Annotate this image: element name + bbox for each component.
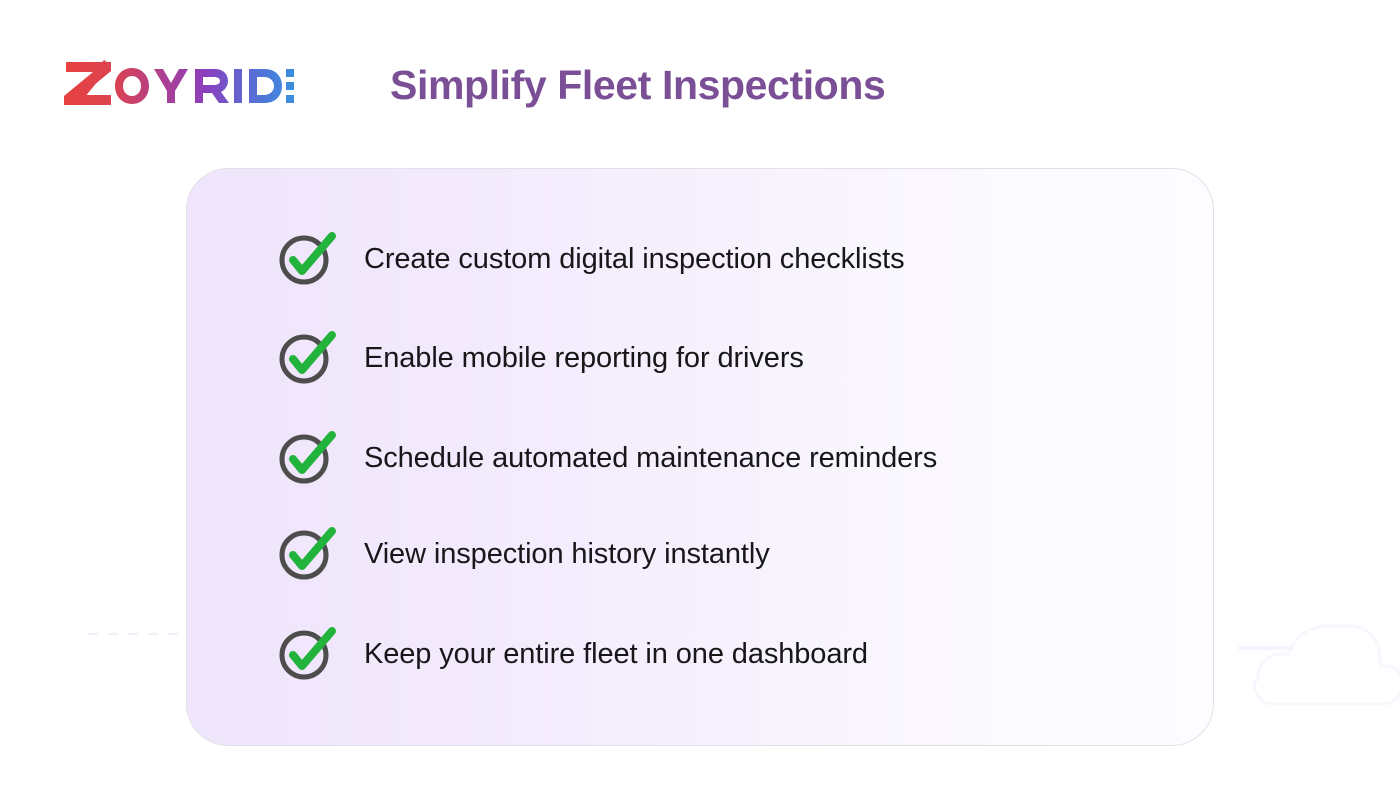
- list-item-label: Schedule automated maintenance reminders: [364, 442, 937, 475]
- check-circle-icon: [276, 526, 340, 582]
- feature-checklist-card: Create custom digital inspection checkli…: [186, 168, 1214, 746]
- list-item-label: Create custom digital inspection checkli…: [364, 243, 905, 276]
- check-circle-icon: [276, 231, 340, 287]
- list-item: View inspection history instantly: [276, 526, 770, 582]
- check-circle-icon: [276, 626, 340, 682]
- list-item: Create custom digital inspection checkli…: [276, 231, 905, 287]
- zoyride-logo[interactable]: [62, 58, 294, 106]
- vehicle-outline-watermark: [1230, 596, 1400, 736]
- list-item-label: Keep your entire fleet in one dashboard: [364, 638, 868, 671]
- list-item-label: View inspection history instantly: [364, 538, 770, 571]
- check-circle-icon: [276, 330, 340, 386]
- check-circle-icon: [276, 430, 340, 486]
- list-item: Keep your entire fleet in one dashboard: [276, 626, 868, 682]
- page-header: Simplify Fleet Inspections: [0, 0, 1400, 160]
- list-item-label: Enable mobile reporting for drivers: [364, 342, 804, 375]
- list-item: Schedule automated maintenance reminders: [276, 430, 937, 486]
- list-item: Enable mobile reporting for drivers: [276, 330, 804, 386]
- checklist: Create custom digital inspection checkli…: [187, 169, 1213, 745]
- page-title: Simplify Fleet Inspections: [390, 62, 885, 109]
